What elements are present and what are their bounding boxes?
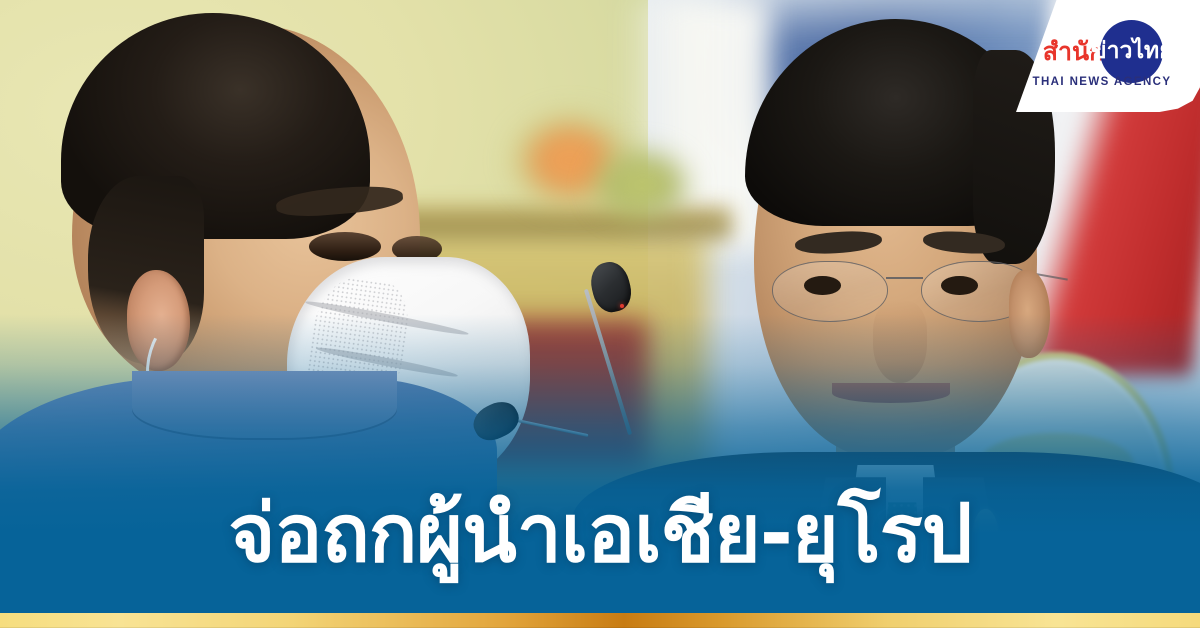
microphone-stem (512, 418, 589, 437)
gold-accent-bar (0, 613, 1200, 628)
news-card: จ่อถกผู้นำเอเชีย-ยุโรป สำนัก ข่าวไทย THA… (0, 0, 1200, 628)
left-subject-eye (309, 232, 381, 261)
right-subject-nose (873, 301, 928, 383)
right-subject-eye-left (804, 276, 840, 295)
microphone-status-led (620, 304, 624, 308)
right-subject-ear (1009, 270, 1050, 358)
right-subject-eye-right (941, 276, 977, 295)
eyeglasses-bridge (886, 277, 923, 279)
logo-word-circle: ข่าวไทย (1091, 40, 1173, 63)
left-subject-collar (132, 371, 397, 440)
logo-subtitle: THAI NEWS AGENCY (1016, 76, 1188, 88)
logo-circle-badge: ข่าวไทย (1100, 20, 1163, 83)
microphone-head (468, 396, 524, 447)
table-microphone (473, 382, 593, 462)
headline-text: จ่อถกผู้นำเอเชีย-ยุโรป (0, 494, 1200, 574)
